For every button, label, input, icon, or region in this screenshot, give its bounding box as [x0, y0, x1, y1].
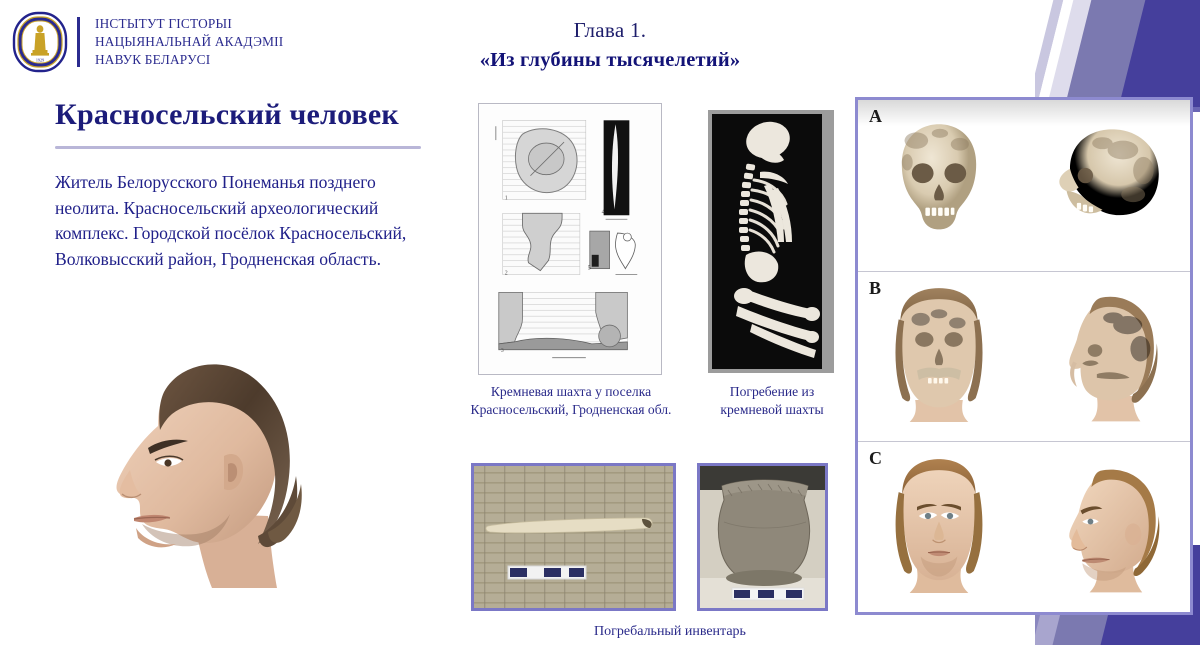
description-paragraph: Житель Белорусского Понеманья позднего н… [55, 170, 435, 273]
caption-burial-inventory: Погребальный инвентарь [520, 623, 820, 642]
caption-burial-photo: Погребение из кремневой шахты [700, 383, 844, 419]
panel-a-label: A [869, 106, 882, 127]
slide-heading: Глава 1. «Из глубины тысячелетий» [400, 18, 820, 72]
slide-canvas: 1929 ІНСТЫТУТ ГІСТОРЫІ НАЦЫЯНАЛЬНАЙ АКАД… [0, 0, 1200, 645]
title-underline-divider [55, 146, 421, 149]
reconstructed-face-icon [858, 442, 1190, 612]
svg-text:2: 2 [505, 271, 508, 277]
reconstruction-stages-panel: A [855, 97, 1193, 615]
institute-seal-icon: 1929 [12, 11, 68, 73]
diagonal-ribbon-top-right-decoration [1035, 0, 1200, 112]
chapter-subtitle: «Из глубины тысячелетий» [400, 49, 820, 72]
svg-text:1929: 1929 [36, 57, 44, 62]
panel-c-label: C [869, 448, 882, 469]
archaeological-plan-drawing-icon: 1 2 3 4 [478, 103, 662, 375]
svg-text:5: 5 [588, 266, 591, 272]
caption-flint-mine-plan: Кремневая шахта у поселка Красносельский… [466, 383, 676, 419]
logo-divider [77, 17, 80, 67]
reconstruction-panel-a: A [858, 100, 1190, 271]
left-content-column: Красносельский человек Житель Белорусско… [55, 98, 455, 273]
page-title: Красносельский человек [55, 98, 455, 131]
svg-text:3: 3 [501, 348, 504, 354]
reconstruction-panel-c: C [858, 441, 1190, 612]
chapter-label: Глава 1. [400, 18, 820, 42]
facial-reconstruction-profile-icon [72, 288, 372, 608]
bone-point-artifact-icon [471, 463, 676, 611]
ceramic-vessel-artifact-icon [697, 463, 828, 611]
skull-face-overlay-icon [858, 272, 1190, 442]
svg-text:1: 1 [505, 195, 508, 201]
skull-front-and-profile-icon [858, 100, 1190, 271]
skeleton-burial-photo-icon [708, 110, 834, 373]
institute-name-line-1: ІНСТЫТУТ ГІСТОРЫІ [95, 15, 283, 33]
institute-branding: 1929 ІНСТЫТУТ ГІСТОРЫІ НАЦЫЯНАЛЬНАЙ АКАД… [12, 6, 342, 78]
svg-text:4: 4 [602, 209, 605, 215]
panel-b-label: B [869, 278, 881, 299]
institute-name-line-2: НАЦЫЯНАЛЬНАЙ АКАДЭМІІ [95, 33, 283, 51]
institute-name: ІНСТЫТУТ ГІСТОРЫІ НАЦЫЯНАЛЬНАЙ АКАДЭМІІ … [95, 15, 283, 68]
reconstruction-panel-b: B [858, 271, 1190, 442]
institute-name-line-3: НАВУК БЕЛАРУСІ [95, 51, 283, 69]
